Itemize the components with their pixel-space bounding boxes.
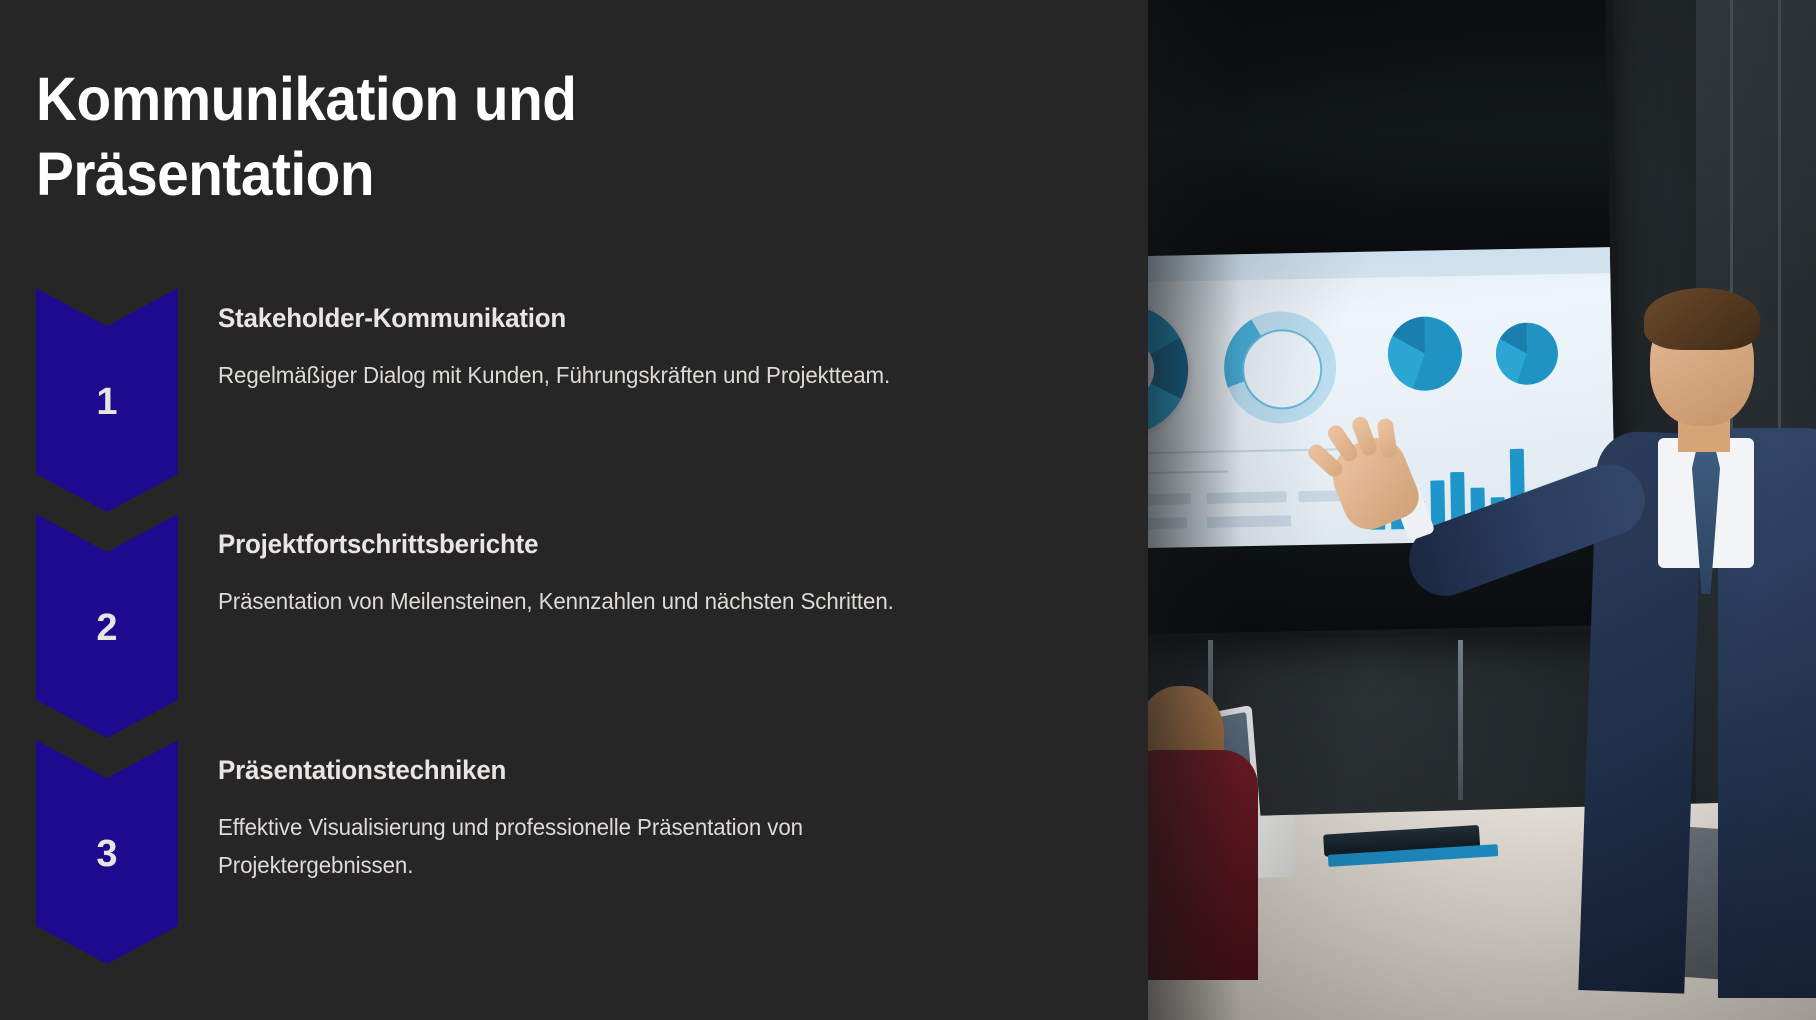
step-badge-2: 2 [36,514,178,738]
presenter-hair [1644,288,1760,350]
display-dark-area [1148,0,1610,259]
list-item: 1 Stakeholder-Kommunikation Regelmäßiger… [36,288,1046,512]
dashboard-card [1207,515,1291,528]
divider [1148,470,1228,476]
pie-chart [1387,316,1462,391]
dashboard-card [1148,493,1191,506]
step-body: Stakeholder-Kommunikation Regelmäßiger D… [218,302,1018,394]
dashboard-card [1207,491,1287,504]
content-panel: Kommunikation und Präsentation 1 Stakeho… [0,0,1148,1020]
step-description: Effektive Visualisierung und professione… [218,808,994,885]
list-item: 2 Projektfortschrittsberichte Präsentati… [36,514,1046,738]
radial-gauge-chart [1223,310,1337,424]
presentation-slide: Kommunikation und Präsentation 1 Stakeho… [0,0,1816,1020]
step-title: Präsentationstechniken [218,754,986,788]
attendee-body [1148,750,1258,980]
step-title: Projektfortschrittsberichte [218,528,986,562]
step-badge-1: 1 [36,288,178,512]
display-stand-leg [1458,640,1463,800]
step-number: 1 [96,383,117,421]
donut-chart [1148,303,1189,435]
dashboard-card [1148,517,1187,530]
list-item: 3 Präsentationstechniken Effektive Visua… [36,740,1046,964]
presentation-photo [1148,0,1816,1020]
steps-list: 1 Stakeholder-Kommunikation Regelmäßiger… [36,288,1046,964]
step-description: Regelmäßiger Dialog mit Kunden, Führungs… [218,356,994,395]
step-number: 3 [96,835,117,873]
step-body: Projektfortschrittsberichte Präsentation… [218,528,1018,620]
presenter-figure [1532,282,1816,1020]
step-number: 2 [96,609,117,647]
step-badge-3: 3 [36,740,178,964]
page-title: Kommunikation und Präsentation [36,62,687,212]
step-description: Präsentation von Meilensteinen, Kennzahl… [218,582,994,621]
step-title: Stakeholder-Kommunikation [218,302,986,336]
step-body: Präsentationstechniken Effektive Visuali… [218,754,1018,885]
